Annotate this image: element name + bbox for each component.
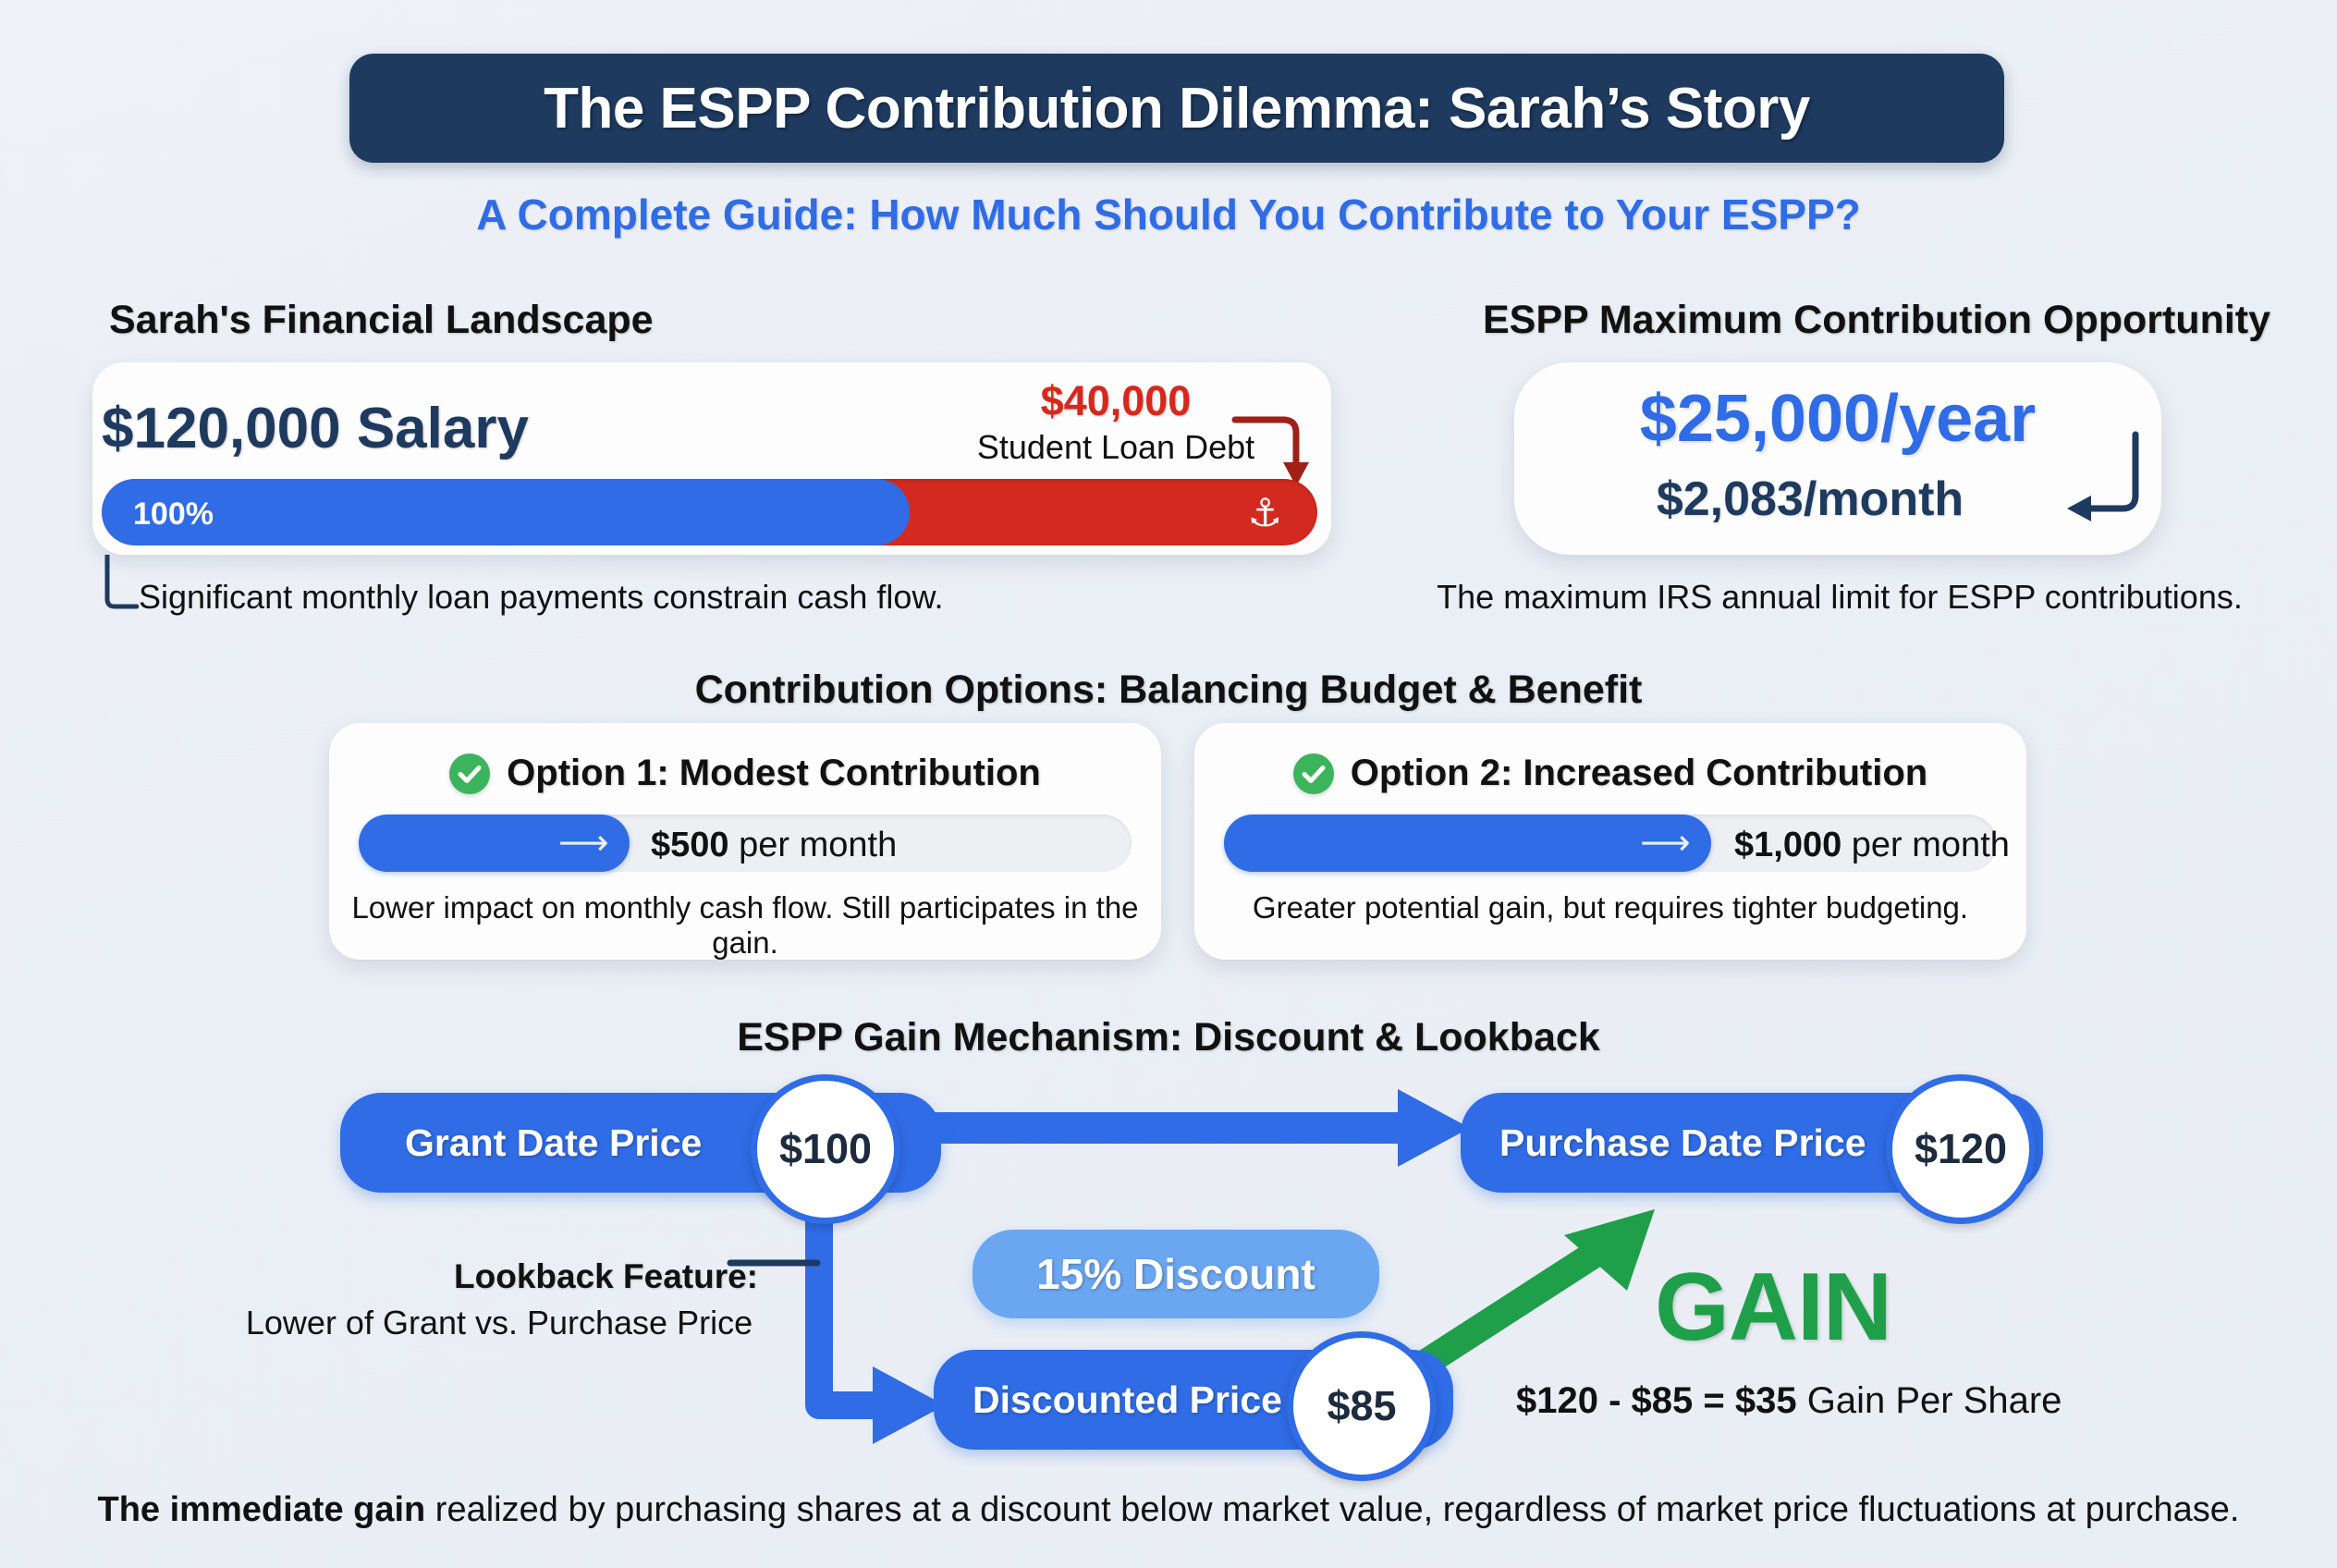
option-1-card[interactable]: Option 1: Modest Contribution ⟶ $500 per… [329, 723, 1161, 960]
lookback-title: Lookback Feature: [277, 1257, 758, 1296]
salary-debt-bar: 100% ⚓ [102, 479, 1317, 545]
purchase-price-badge: $120 [1886, 1074, 2036, 1224]
discount-pill: 15% Discount [973, 1230, 1379, 1318]
max-note: The maximum IRS annual limit for ESPP co… [1368, 578, 2311, 617]
salary-bar-fill [102, 479, 910, 545]
option-1-slider[interactable]: ⟶ $500 per month [359, 815, 1132, 872]
option-1-amount-text: $500 per month [651, 826, 897, 865]
discounted-price-label: Discounted Price [973, 1378, 1282, 1422]
grant-price-badge: $100 [751, 1074, 900, 1224]
max-callout-arrow-icon [2062, 427, 2163, 529]
option-1-title: Option 1: Modest Contribution [507, 753, 1041, 794]
footer-note-rest: realized by purchasing shares at a disco… [425, 1490, 2239, 1529]
salary-note-connector [102, 555, 139, 612]
salary-panel-heading: Sarah's Financial Landscape [109, 298, 654, 343]
option-2-amount: $1,000 [1734, 826, 1841, 864]
max-panel-heading: ESPP Maximum Contribution Opportunity [1414, 298, 2337, 343]
discounted-price-badge: $85 [1287, 1331, 1437, 1481]
option-2-header: Option 2: Increased Contribution [1194, 753, 2026, 794]
arrow-right-icon: ⟶ [558, 826, 605, 861]
discount-label: 15% Discount [1036, 1249, 1315, 1299]
lookback-description: Lower of Grant vs. Purchase Price [240, 1304, 758, 1342]
option-2-card[interactable]: Option 2: Increased Contribution ⟶ $1,00… [1194, 723, 2026, 960]
footer-note: The immediate gain realized by purchasin… [0, 1490, 2337, 1530]
options-section-heading: Contribution Options: Balancing Budget &… [0, 668, 2337, 713]
page-title-pill: The ESPP Contribution Dilemma: Sarah’s S… [349, 54, 2004, 163]
grant-price-value: $100 [779, 1125, 872, 1173]
option-1-header: Option 1: Modest Contribution [329, 753, 1161, 794]
gain-word: GAIN [1655, 1253, 1891, 1363]
salary-bar-percent: 100% [133, 496, 214, 533]
page-title: The ESPP Contribution Dilemma: Sarah’s S… [544, 76, 1810, 141]
option-2-note: Greater potential gain, but requires tig… [1194, 890, 2026, 925]
gain-section-heading: ESPP Gain Mechanism: Discount & Lookback [0, 1015, 2337, 1060]
purchase-date-price-label: Purchase Date Price [1499, 1121, 1866, 1165]
option-1-slider-fill: ⟶ [359, 815, 630, 872]
debt-amount: $40,000 [1000, 377, 1231, 425]
gain-equation: $120 - $85 = $35 Gain Per Share [1516, 1380, 2062, 1422]
option-2-slider[interactable]: ⟶ $1,000 per month [1224, 815, 1997, 872]
salary-note: Significant monthly loan payments constr… [139, 578, 943, 617]
page-subtitle: A Complete Guide: How Much Should You Co… [0, 190, 2337, 239]
max-per-month: $2,083/month [1514, 472, 2106, 527]
infographic-canvas: The ESPP Contribution Dilemma: Sarah’s S… [0, 0, 2337, 1568]
option-2-title: Option 2: Increased Contribution [1351, 753, 1927, 794]
arrow-right-icon: ⟶ [1640, 826, 1686, 861]
gain-equation-rest: Gain Per Share [1797, 1380, 2062, 1421]
salary-amount: $120,000 Salary [102, 396, 529, 461]
check-circle-icon [1293, 753, 1334, 794]
discounted-price-value: $85 [1327, 1382, 1396, 1430]
option-1-note: Lower impact on monthly cash flow. Still… [329, 890, 1161, 961]
purchase-price-value: $120 [1915, 1125, 2007, 1173]
grant-date-price-label: Grant Date Price [405, 1121, 702, 1165]
check-circle-icon [449, 753, 490, 794]
footer-note-bold: The immediate gain [98, 1490, 426, 1529]
option-1-amount-suffix: per month [729, 826, 898, 864]
gain-equation-bold: $120 - $85 = $35 [1516, 1380, 1797, 1421]
anchor-icon: ⚓ [1247, 490, 1282, 535]
option-2-amount-text: $1,000 per month [1734, 826, 2010, 865]
option-2-amount-suffix: per month [1841, 826, 2010, 864]
option-1-amount: $500 [651, 826, 729, 864]
option-2-slider-fill: ⟶ [1224, 815, 1711, 872]
